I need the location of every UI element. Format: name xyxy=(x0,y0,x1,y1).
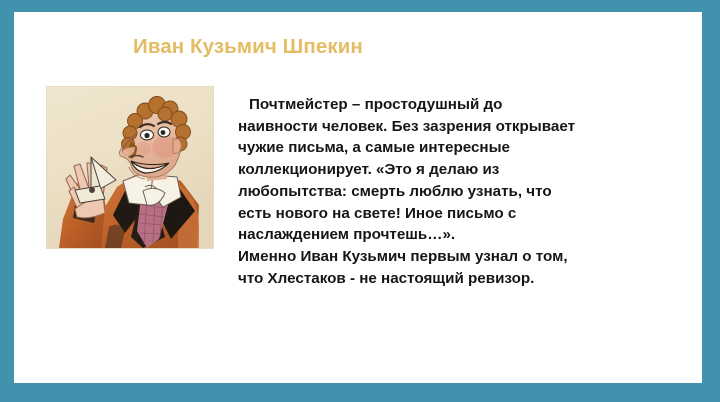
character-description: Почтмейстер – простодушный до наивности … xyxy=(238,94,578,289)
portrait-image xyxy=(47,87,213,248)
description-paragraph-2: Именно Иван Кузьмич первым узнал о том, … xyxy=(238,246,578,289)
description-paragraph-1: Почтмейстер – простодушный до наивности … xyxy=(238,94,578,246)
slide-content-area: Иван Кузьмич Шпекин xyxy=(14,12,702,383)
page-title: Иван Кузьмич Шпекин xyxy=(133,36,363,59)
shpekin-caricature-illustration xyxy=(47,87,213,248)
slide-frame: Иван Кузьмич Шпекин xyxy=(0,0,720,402)
